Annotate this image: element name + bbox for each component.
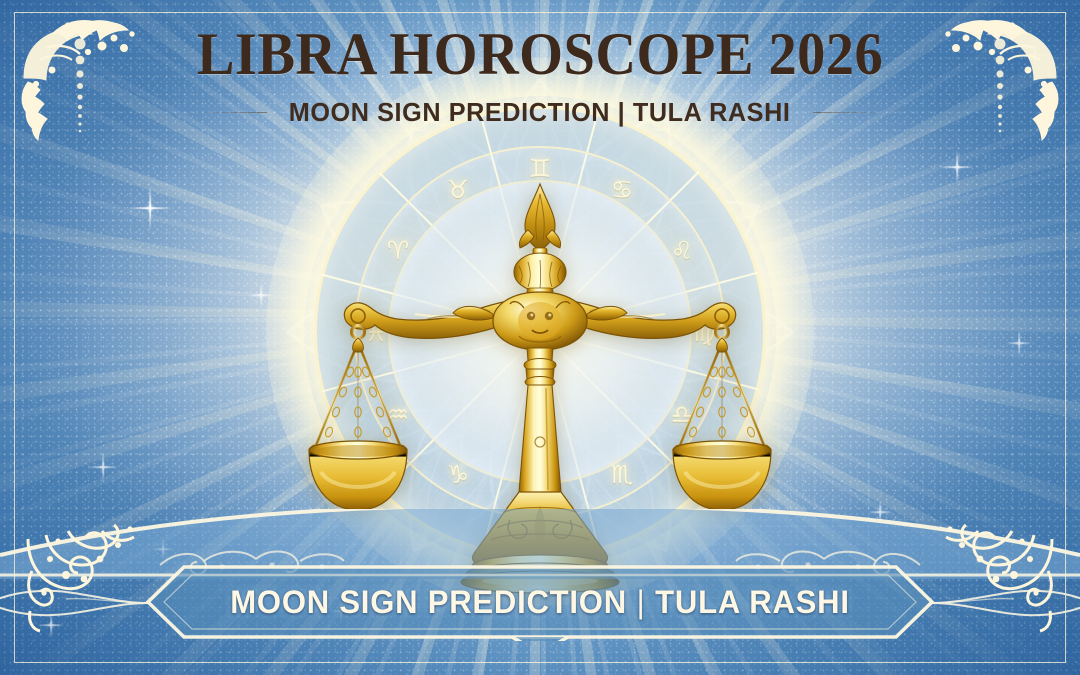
banner-flourish-right (930, 581, 1080, 627)
banner-text: MOON SIGN PREDICTION | TULA RASHI (152, 563, 928, 641)
banner-text-left: MOON SIGN PREDICTION (230, 584, 627, 621)
right-pan-assembly (673, 326, 771, 511)
subtitle-rule-right (813, 112, 885, 113)
subtitle-rule-left (195, 112, 267, 113)
banner-text-separator: | (627, 584, 655, 621)
title-block: LIBRA HOROSCOPE 2026 MOON SIGN PREDICTIO… (0, 24, 1080, 128)
banner-flourish-left (0, 581, 150, 627)
subtitle-row: MOON SIGN PREDICTION | TULA RASHI (0, 97, 1080, 128)
page-title: LIBRA HOROSCOPE 2026 (32, 24, 1047, 85)
horoscope-poster: ♈♉♊♋♌♍♎♏♐♑♒♓ (0, 0, 1080, 675)
page-subtitle: MOON SIGN PREDICTION | TULA RASHI (289, 97, 791, 128)
banner-text-right: TULA RASHI (655, 584, 850, 621)
bottom-banner: MOON SIGN PREDICTION | TULA RASHI (140, 563, 940, 641)
left-pan-assembly (309, 326, 407, 511)
